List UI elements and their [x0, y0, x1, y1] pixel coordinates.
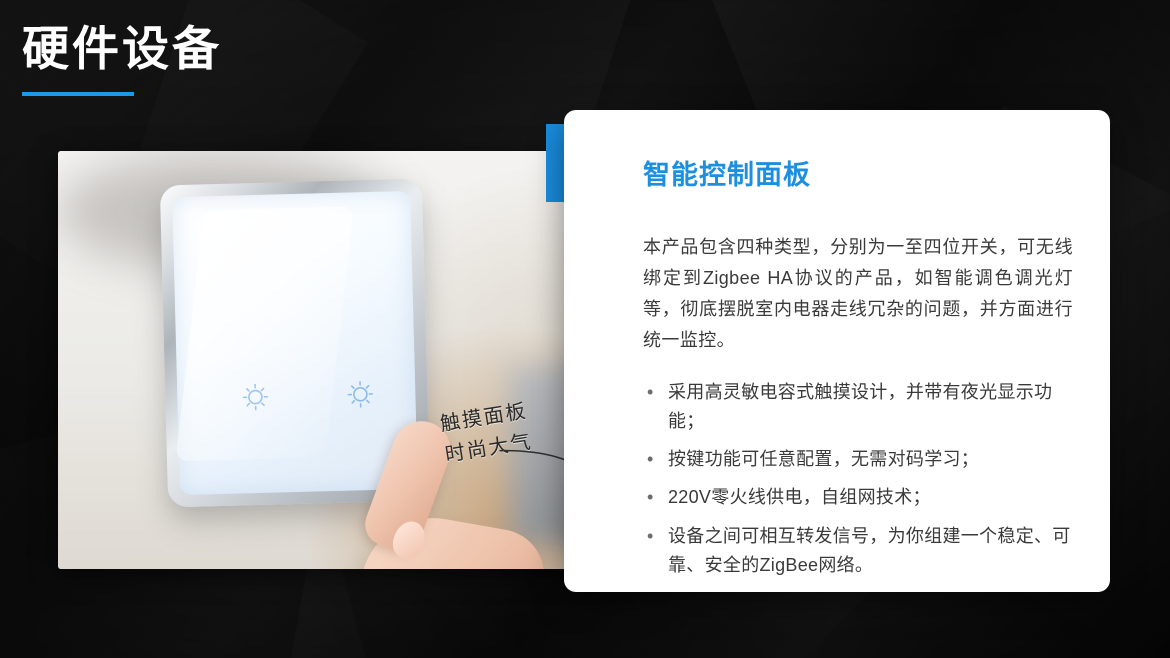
list-item-label: 设备之间可相互转发信号，为你组建一个稳定、可靠、安全的ZigBee网络。 [668, 526, 1071, 575]
bullet-icon: • [647, 445, 654, 474]
list-item: • 按键功能可任意配置，无需对码学习； [643, 445, 1083, 474]
list-item-label: 220V零火线供电，自组网技术； [668, 487, 931, 507]
list-item: • 设备之间可相互转发信号，为你组建一个稳定、可靠、安全的ZigBee网络。 [643, 522, 1083, 580]
title-block: 硬件设备 [22, 22, 222, 96]
card-title: 智能控制面板 [643, 153, 811, 192]
slide-root: 硬件设备 [0, 0, 1170, 658]
glass-reflection [175, 206, 354, 461]
list-item: • 采用高灵敏电容式触摸设计，并带有夜光显示功能； [643, 378, 1083, 436]
bulb-icon [237, 380, 274, 422]
feature-list: • 采用高灵敏电容式触摸设计，并带有夜光显示功能； • 按键功能可任意配置，无需… [643, 378, 1083, 589]
product-photo: 触摸面板 时尚大气 [58, 151, 625, 569]
bullet-icon: • [647, 378, 654, 407]
bullet-icon: • [647, 522, 654, 551]
bullet-icon: • [647, 483, 654, 512]
list-item-label: 按键功能可任意配置，无需对码学习； [668, 449, 979, 469]
bulb-icon [342, 377, 379, 419]
title-underline [22, 92, 134, 96]
card-paragraph: 本产品包含四种类型，分别为一至四位开关，可无线绑定到Zigbee HA协议的产品… [643, 232, 1073, 356]
info-card: 智能控制面板 本产品包含四种类型，分别为一至四位开关，可无线绑定到Zigbee … [564, 110, 1110, 592]
page-title: 硬件设备 [22, 22, 222, 76]
list-item-label: 采用高灵敏电容式触摸设计，并带有夜光显示功能； [668, 382, 1052, 431]
list-item: • 220V零火线供电，自组网技术； [643, 483, 1083, 512]
